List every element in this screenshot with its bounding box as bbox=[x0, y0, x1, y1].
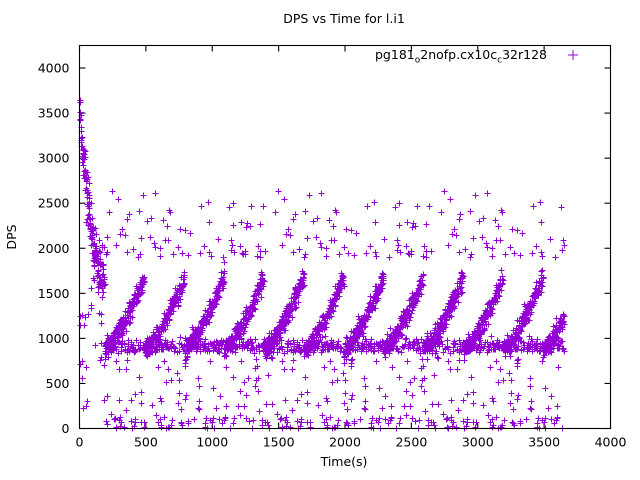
y-tick-label: 500 bbox=[46, 376, 70, 391]
y-tick-label: 3000 bbox=[38, 151, 70, 166]
chart-background bbox=[0, 0, 640, 480]
x-axis-label: Time(s) bbox=[320, 454, 368, 469]
x-tick-label: 4000 bbox=[595, 435, 627, 450]
y-tick-label: 1000 bbox=[38, 331, 70, 346]
y-tick-label: 1500 bbox=[38, 286, 70, 301]
y-tick-label: 2000 bbox=[38, 241, 70, 256]
y-axis-label: DPS bbox=[4, 224, 19, 249]
x-tick-label: 2500 bbox=[395, 435, 427, 450]
x-tick-label: 0 bbox=[76, 435, 84, 450]
x-tick-label: 2000 bbox=[329, 435, 361, 450]
y-tick-label: 2500 bbox=[38, 196, 70, 211]
dps-vs-time-scatter-plot: DPS vs Time for l.i1 0500100015002000250… bbox=[0, 0, 640, 480]
x-tick-label: 1000 bbox=[196, 435, 228, 450]
y-tick-label: 4000 bbox=[38, 61, 70, 76]
x-tick-label: 1500 bbox=[263, 435, 295, 450]
chart-container: DPS vs Time for l.i1 0500100015002000250… bbox=[0, 0, 640, 480]
x-tick-label: 500 bbox=[134, 435, 158, 450]
x-tick-label: 3500 bbox=[528, 435, 560, 450]
y-tick-label: 3500 bbox=[38, 106, 70, 121]
chart-title: DPS vs Time for l.i1 bbox=[283, 11, 405, 26]
x-tick-label: 3000 bbox=[462, 435, 494, 450]
y-tick-label: 0 bbox=[62, 421, 70, 436]
